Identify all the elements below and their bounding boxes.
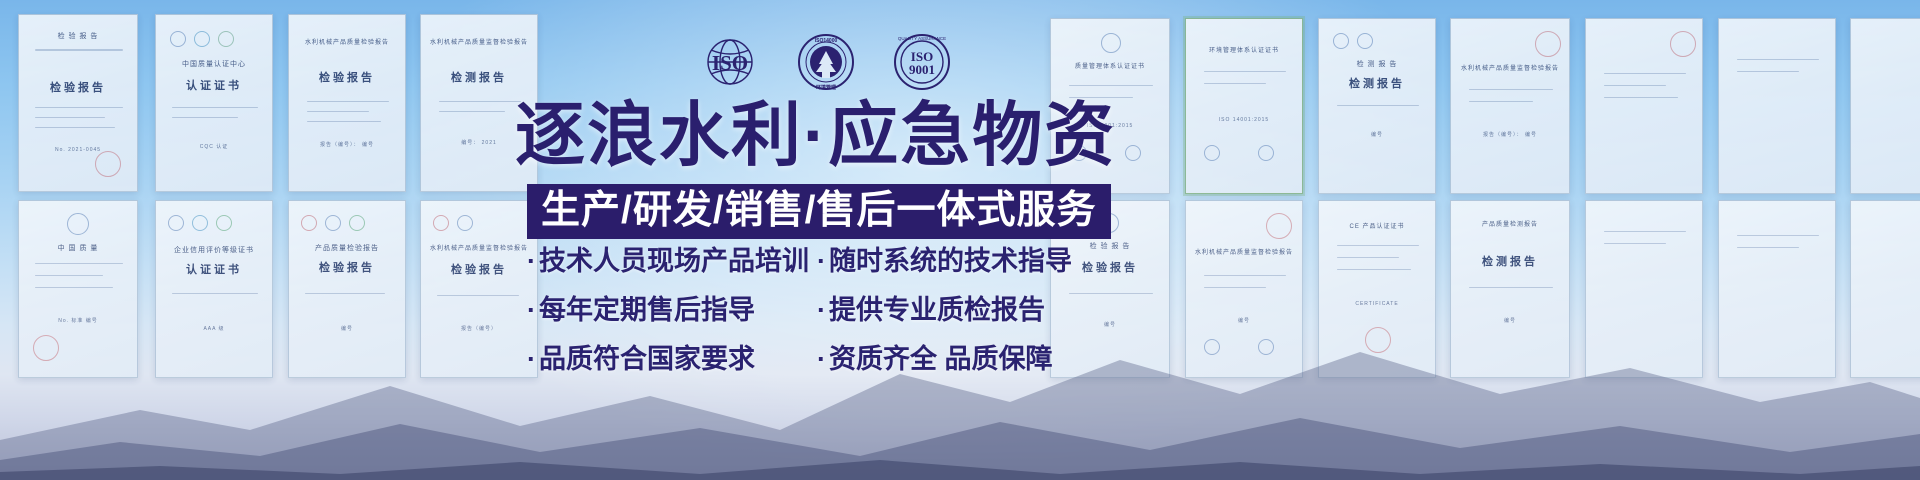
iso-globe-badge: ISO (700, 32, 760, 92)
svg-text:9001: 9001 (909, 62, 935, 77)
iso-14000-badge: ISO14000 环境管理 (796, 32, 856, 92)
bullet-marker: · (527, 246, 536, 276)
bullet-marker: · (527, 344, 536, 374)
bullet-item: ·技术人员现场产品培训 (527, 246, 799, 277)
bullet-text: 每年定期售后指导 (539, 295, 755, 325)
bullet-marker: · (527, 295, 536, 325)
feature-bullet-list: ·技术人员现场产品培训 ·随时系统的技术指导 ·每年定期售后指导 ·提供专业质检… (527, 246, 1072, 375)
bullet-item: ·资质齐全 品质保障 (817, 344, 1072, 375)
bullet-marker: · (817, 344, 826, 374)
promo-banner: 检 验 报 告 检验报告 No. 2021-0045 中国质量认证中心 认证证书… (0, 0, 1920, 480)
svg-text:环境管理: 环境管理 (816, 84, 836, 91)
certification-badge-row: ISO ISO14000 环境管理 (700, 32, 952, 92)
bullet-item: ·随时系统的技术指导 (817, 246, 1072, 277)
bullet-text: 资质齐全 品质保障 (829, 344, 1053, 374)
svg-text:ISO14000: ISO14000 (815, 38, 838, 44)
bullet-text: 提供专业质检报告 (829, 295, 1045, 325)
bullet-item: ·品质符合国家要求 (527, 344, 799, 375)
service-tagline-bar: 生产/研发/销售/售后一体式服务 (527, 184, 1111, 239)
bullet-item: ·提供专业质检报告 (817, 295, 1072, 326)
bullet-marker: · (817, 246, 826, 276)
bullet-text: 品质符合国家要求 (539, 344, 755, 374)
page-title: 逐浪水利·应急物资 (515, 100, 1116, 170)
bullet-text: 随时系统的技术指导 (829, 246, 1072, 276)
bullet-item: ·每年定期售后指导 (527, 295, 799, 326)
iso-9001-badge: ISO 9001 QUALITY ASSURANCE (892, 32, 952, 92)
bullet-marker: · (817, 295, 826, 325)
bullet-text: 技术人员现场产品培训 (539, 246, 809, 276)
svg-text:QUALITY ASSURANCE: QUALITY ASSURANCE (898, 36, 946, 41)
service-tagline-text: 生产/研发/销售/售后一体式服务 (541, 189, 1097, 232)
banner-copy: ISO ISO14000 环境管理 (0, 0, 1920, 480)
svg-text:ISO: ISO (712, 51, 748, 75)
